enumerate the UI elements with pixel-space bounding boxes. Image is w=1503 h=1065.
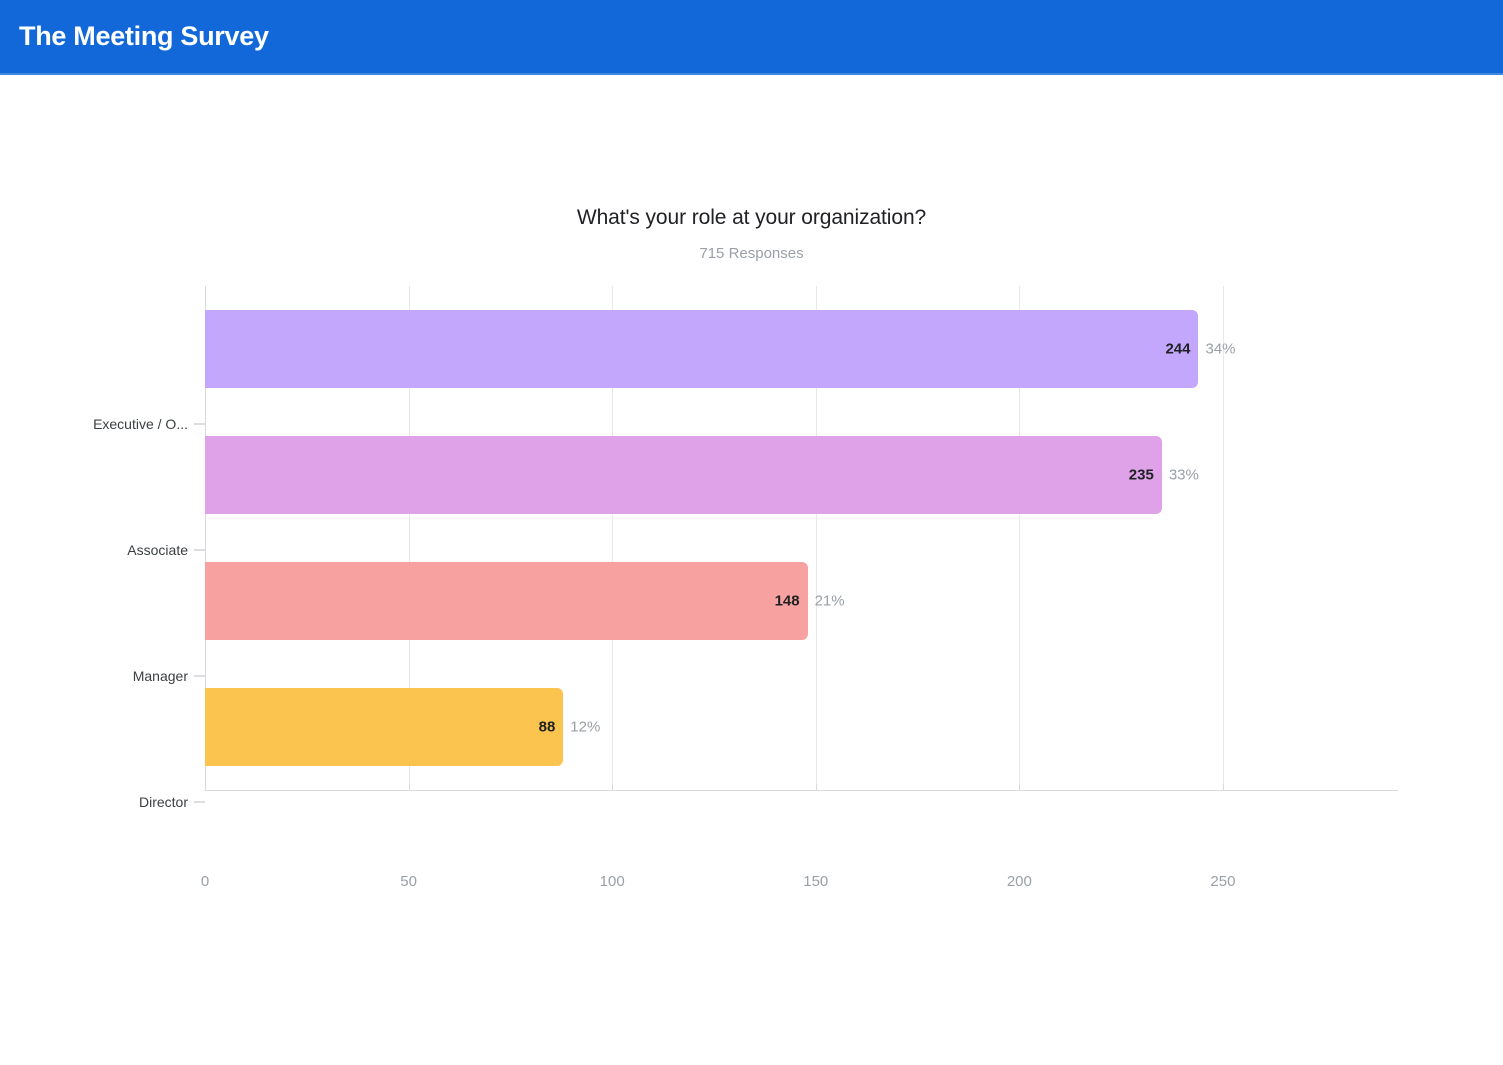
bar-percent-label: 34% [1205,341,1235,358]
bar-series: 24434%23533%14821%8812% [205,286,1398,790]
chart-response-count: 715 Responses [0,245,1503,262]
bar-executive-o[interactable] [205,310,1198,388]
bar-director[interactable] [205,688,563,766]
y-axis-label-manager: Manager [133,668,188,684]
x-tick-mark [1019,784,1020,791]
x-tick-label-100: 100 [600,873,625,890]
x-axis-line [205,790,1398,791]
y-tick-mark [194,424,205,425]
x-tick-label-50: 50 [400,873,417,890]
bar-percent-label: 33% [1169,467,1199,484]
bar-value-label: 235 [1129,467,1154,484]
y-tick-mark [194,802,205,803]
x-tick-mark [1223,784,1224,791]
bar-percent-label: 12% [570,719,600,736]
bar-manager[interactable] [205,562,808,640]
bar-value-label: 88 [539,719,556,736]
chart-panel: What's your role at your organization? 7… [0,75,1503,1065]
bar-percent-label: 21% [815,593,845,610]
bar-row[interactable]: 24434% [205,310,1398,388]
y-axis-label-executive-o: Executive / O... [93,416,188,432]
bar-value-label: 148 [775,593,800,610]
x-tick-label-250: 250 [1210,873,1235,890]
x-tick-label-200: 200 [1007,873,1032,890]
bar-row[interactable]: 8812% [205,688,1398,766]
y-axis-label-associate: Associate [127,542,188,558]
x-tick-mark [612,784,613,791]
bar-row[interactable]: 23533% [205,436,1398,514]
chart-title: What's your role at your organization? [0,206,1503,230]
app-header: The Meeting Survey [0,0,1503,75]
bar-value-label: 244 [1165,341,1190,358]
x-tick-mark [205,784,206,791]
y-axis-label-director: Director [139,794,188,810]
x-tick-mark [816,784,817,791]
x-tick-label-150: 150 [803,873,828,890]
x-tick-mark [409,784,410,791]
app-title: The Meeting Survey [0,21,269,52]
bar-associate[interactable] [205,436,1162,514]
y-tick-mark [194,676,205,677]
y-tick-mark [194,550,205,551]
x-tick-label-0: 0 [201,873,209,890]
bar-row[interactable]: 14821% [205,562,1398,640]
